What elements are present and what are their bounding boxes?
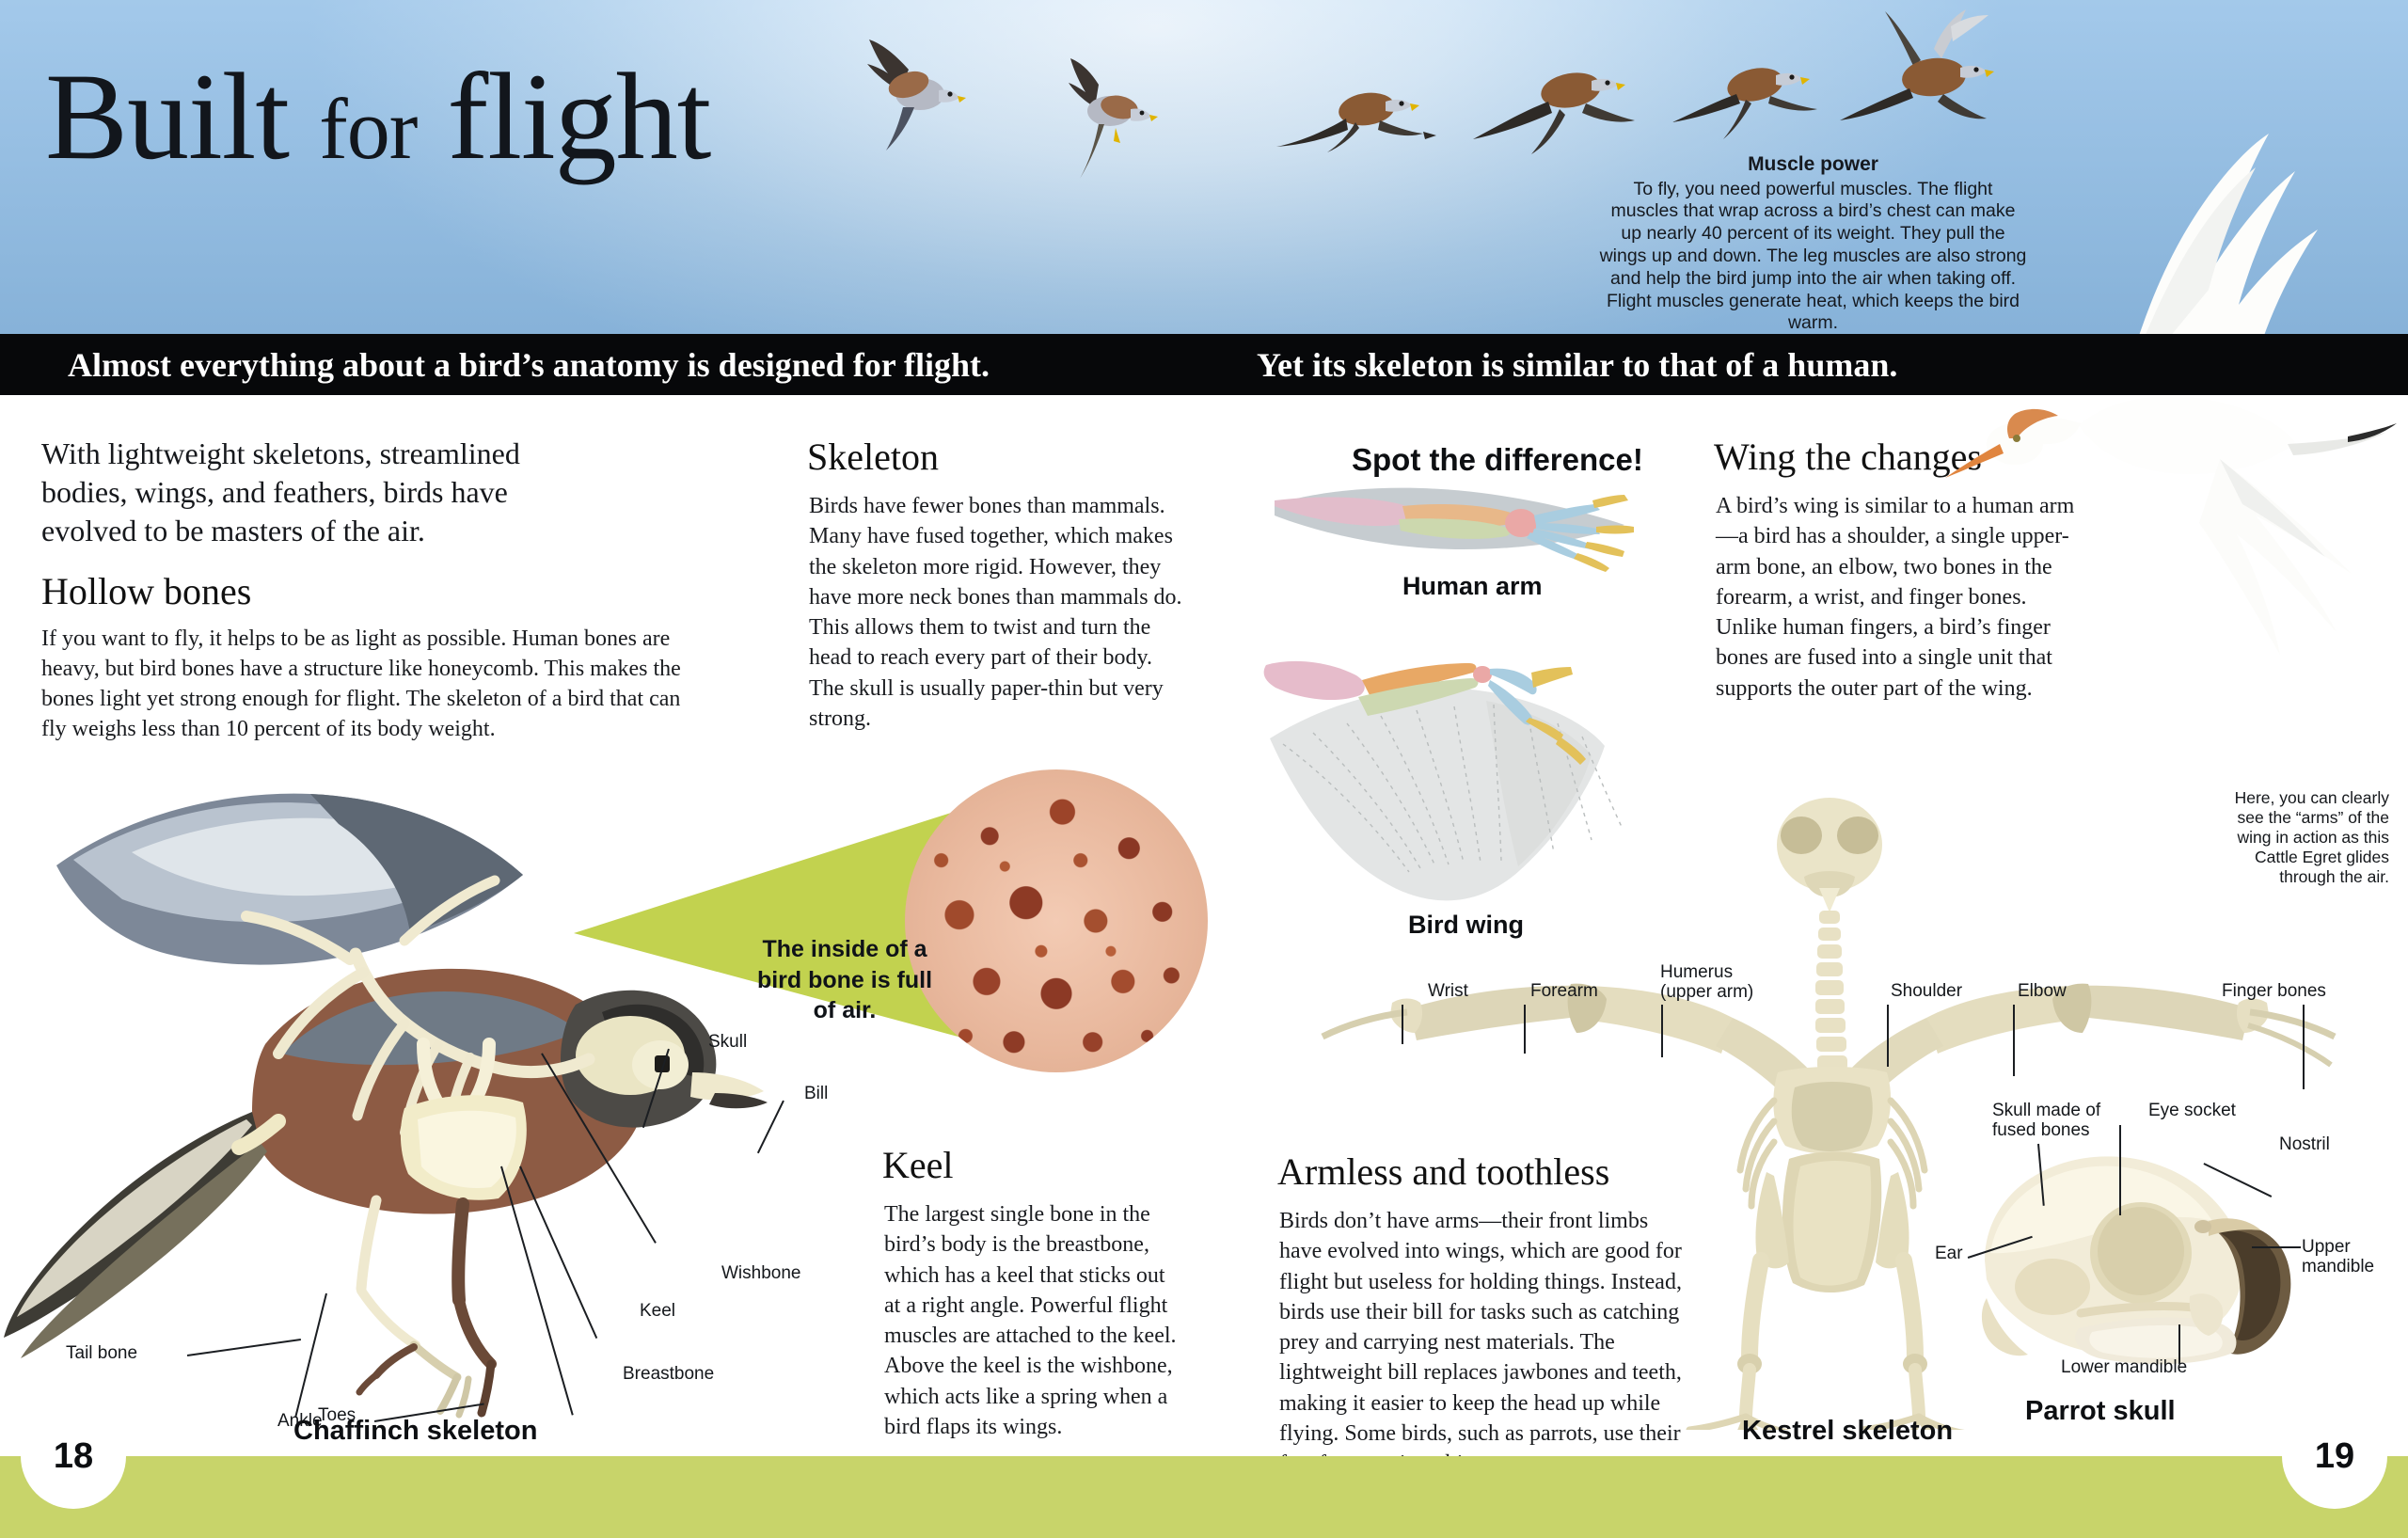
label-finger-bones: Finger bones: [2222, 981, 2326, 1001]
leader-shoulder: [1887, 1005, 1889, 1067]
hollow-bones-body: If you want to fly, it helps to be as li…: [41, 624, 700, 745]
label-nostril: Nostril: [2279, 1134, 2330, 1154]
keel-heading: Keel: [882, 1143, 954, 1187]
label-skull-fused-line2: fused bones: [1992, 1120, 2090, 1140]
title-word-for: for: [319, 81, 417, 177]
label-wrist: Wrist: [1428, 981, 1468, 1001]
label-lower-mandible: Lower mandible: [2061, 1357, 2187, 1377]
label-skull-fused-bones: Skull made of fused bones: [1992, 1101, 2100, 1141]
page-number-right: 19: [2282, 1403, 2387, 1509]
bone-callout: The inside of a bird bone is full of air…: [574, 762, 1232, 1082]
banner-left-text: Almost everything about a bird’s anatomy…: [68, 345, 990, 385]
skeleton-body: Birds have fewer bones than mammals. Man…: [809, 491, 1185, 734]
banner-right: Yet its skeleton is similar to that of a…: [1232, 334, 2408, 395]
page-title: Built for flight: [45, 55, 710, 179]
label-bill: Bill: [804, 1084, 828, 1103]
page-number-left: 18: [21, 1403, 126, 1509]
label-keel: Keel: [640, 1301, 675, 1321]
leader-eye-socket: [2119, 1125, 2121, 1215]
label-elbow: Elbow: [2018, 981, 2067, 1001]
title-word-built: Built: [45, 47, 289, 185]
label-humerus-line1: Humerus: [1660, 962, 1733, 982]
leader-upper-mandible: [2252, 1246, 2301, 1248]
label-shoulder: Shoulder: [1891, 981, 1962, 1001]
kestrel-flight-photo-5: [1665, 40, 1834, 162]
banner-right-text: Yet its skeleton is similar to that of a…: [1257, 345, 1897, 385]
label-upper-mandible: Upper mandible: [2302, 1237, 2374, 1277]
kestrel-flight-photo-2: [1033, 56, 1193, 188]
title-word-flight: flight: [447, 47, 710, 185]
kestrel-flight-photo-3: [1265, 64, 1453, 186]
spread-page: Built for flight: [0, 0, 2408, 1538]
keel-body: The largest single bone in the bird’s bo…: [884, 1199, 1185, 1442]
leader-finger-bones: [2303, 1005, 2305, 1089]
intro-paragraph: With lightweight skeletons, streamlined …: [41, 435, 568, 550]
chaffinch-caption: Chaffinch skeleton: [293, 1416, 537, 1447]
leader-humerus: [1661, 1005, 1663, 1057]
label-humerus-line2: (upper arm): [1660, 982, 1753, 1002]
skeleton-heading: Skeleton: [807, 435, 939, 479]
label-upper-mandible-line1: Upper: [2302, 1237, 2351, 1257]
bone-callout-text: The inside of a bird bone is full of air…: [751, 934, 939, 1026]
cattle-egret-photo: [1938, 113, 2408, 753]
human-arm-illustration: [1275, 470, 1651, 574]
label-breastbone: Breastbone: [623, 1364, 714, 1384]
label-wishbone: Wishbone: [721, 1263, 801, 1283]
label-upper-mandible-line2: mandible: [2302, 1257, 2374, 1276]
kestrel-caption: Kestrel skeleton: [1742, 1416, 1953, 1447]
banner-left: Almost everything about a bird’s anatomy…: [0, 334, 1232, 395]
label-ear: Ear: [1935, 1244, 1963, 1263]
label-humerus: Humerus (upper arm): [1660, 962, 1753, 1003]
label-eye-socket: Eye socket: [2148, 1101, 2236, 1120]
leader-wrist: [1402, 1005, 1403, 1044]
parrot-caption: Parrot skull: [2025, 1396, 2176, 1427]
label-tail-bone: Tail bone: [66, 1343, 137, 1363]
hollow-bones-heading: Hollow bones: [41, 569, 251, 613]
footer-green-bar: [0, 1456, 2408, 1538]
leader-lower-mandible: [2178, 1324, 2180, 1364]
leader-forearm: [1524, 1005, 1526, 1054]
kestrel-flight-photo-1: [828, 36, 997, 158]
label-skull-fused-line1: Skull made of: [1992, 1101, 2100, 1120]
bone-cross-section-photo: [905, 769, 1208, 1072]
leader-elbow: [2013, 1005, 2015, 1076]
human-arm-caption: Human arm: [1402, 572, 1543, 601]
label-forearm: Forearm: [1530, 981, 1598, 1001]
